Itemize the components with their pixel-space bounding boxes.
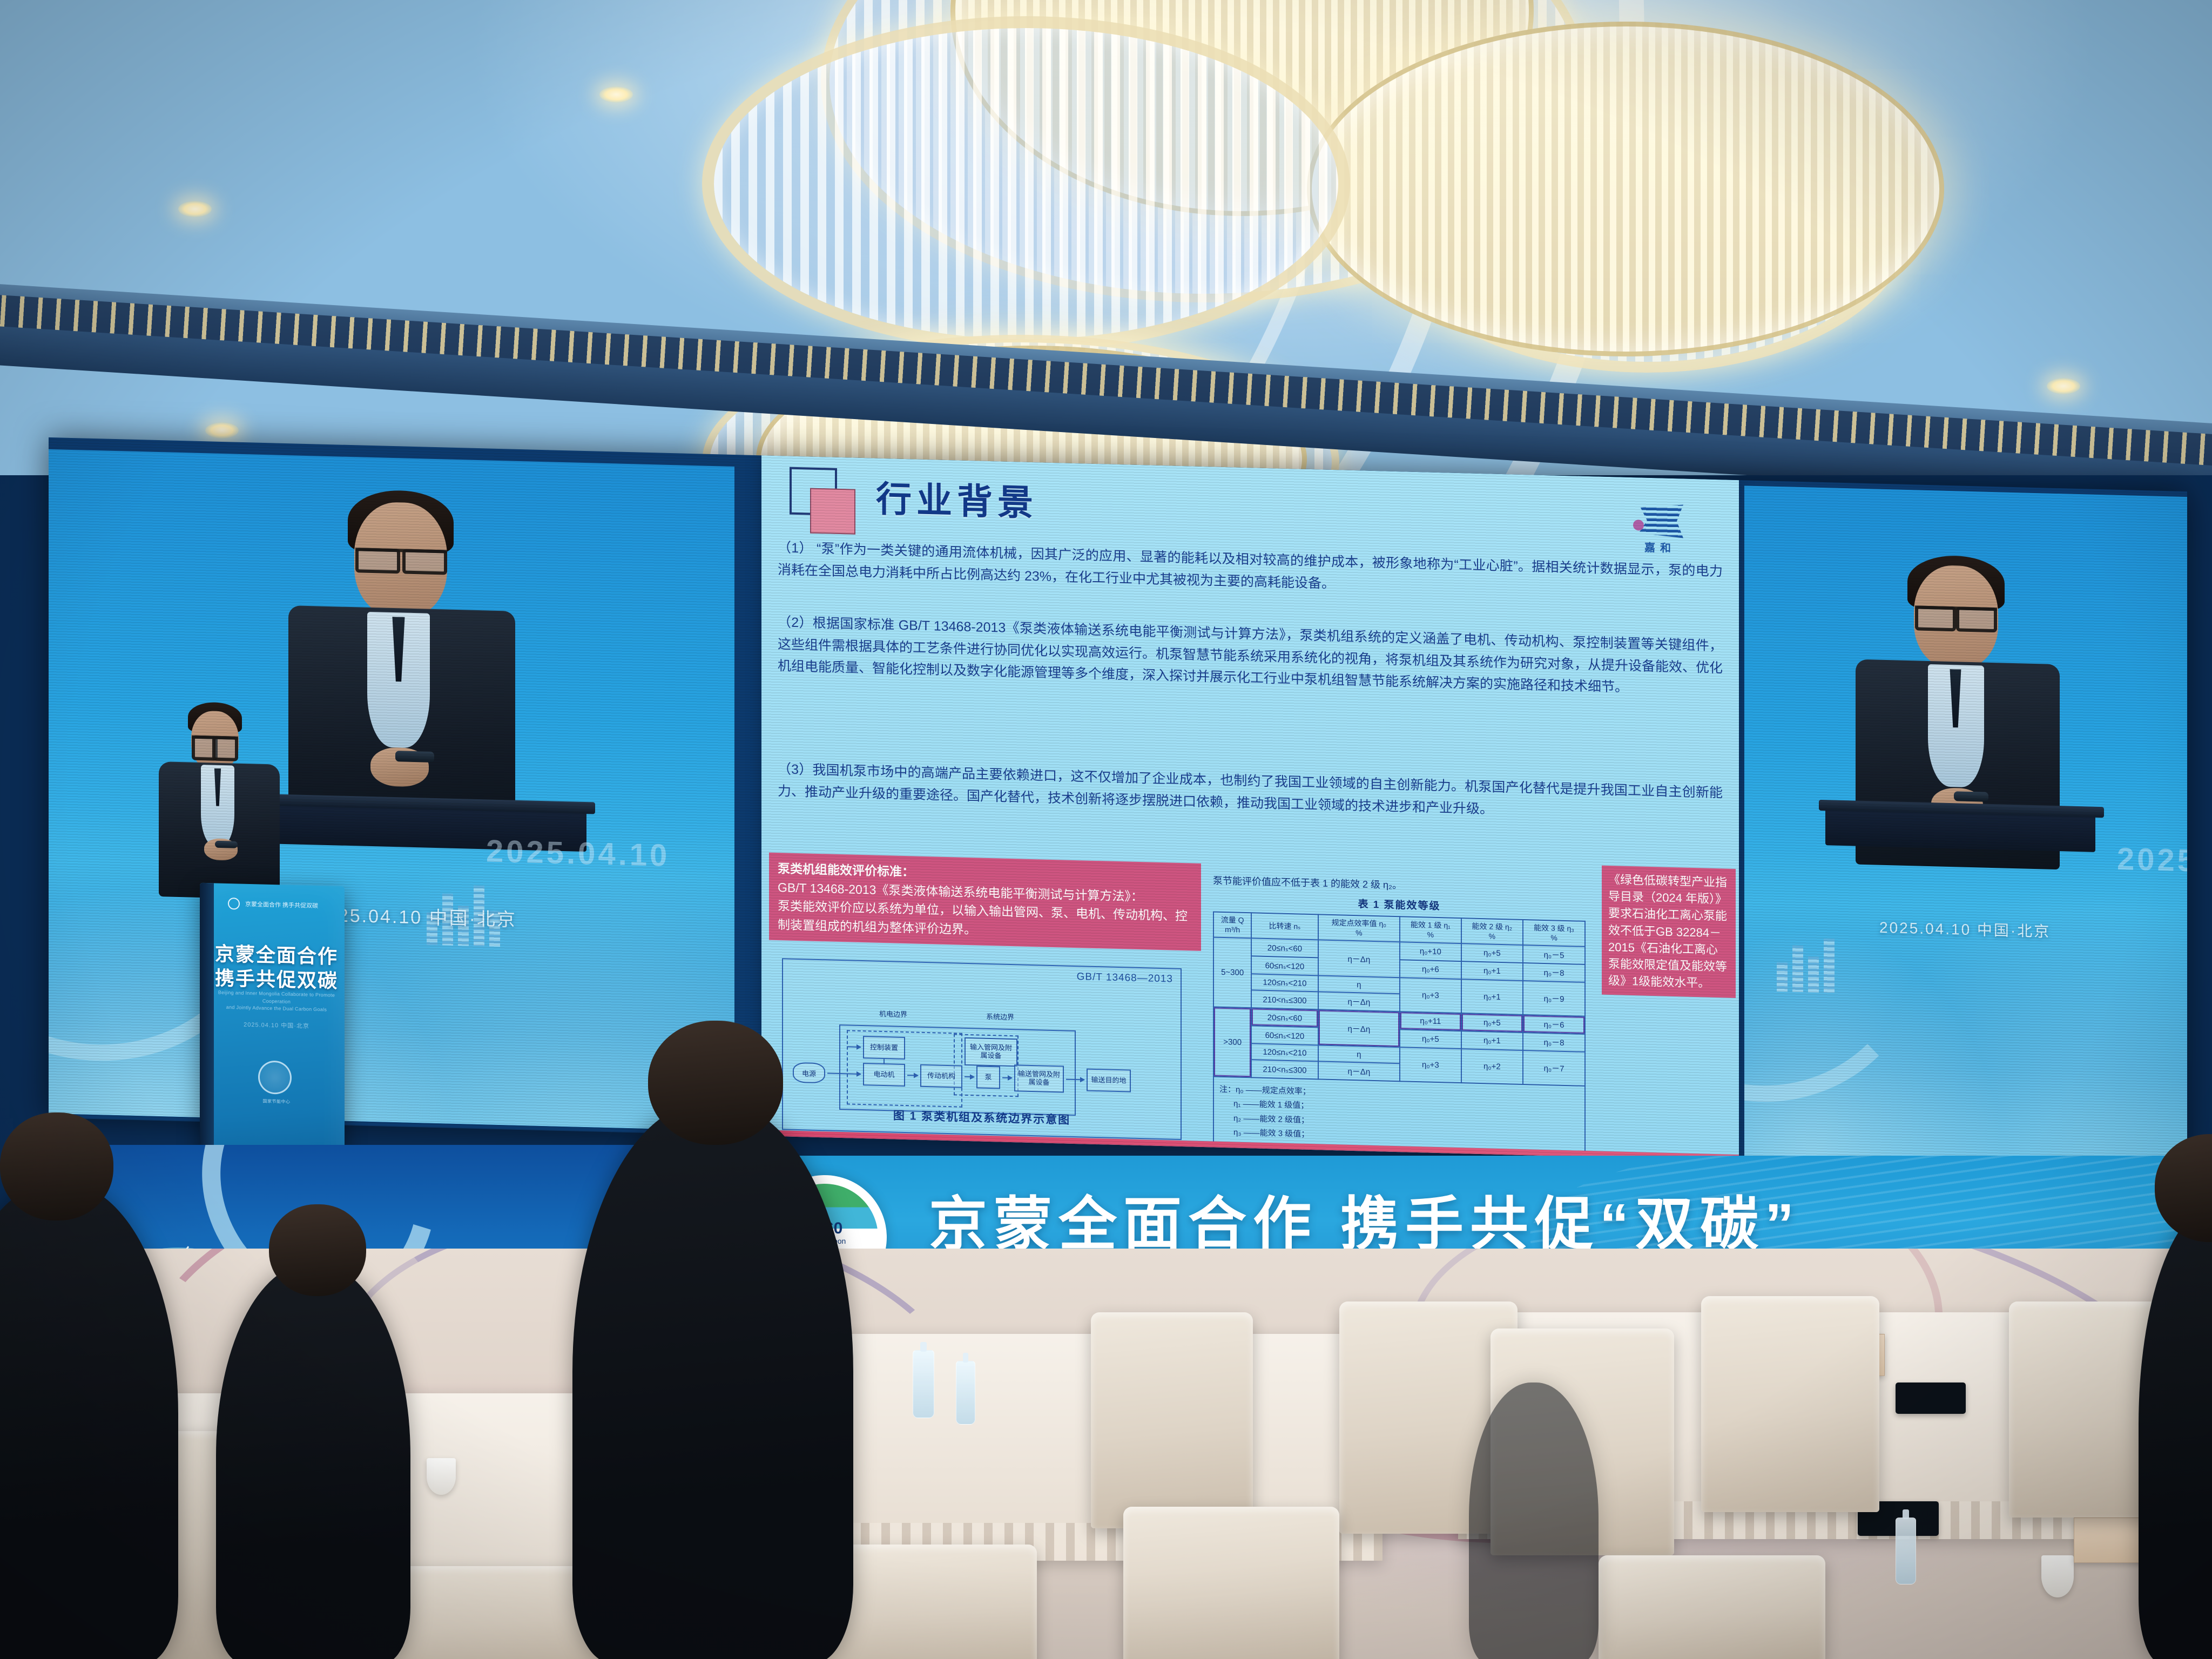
feed-date-caption: 2025.04.10 中国·北京 [314,900,517,931]
table-cell-grade3: η₀－5 [1523,945,1585,965]
figure-label-electrical-boundary: 机电边界 [879,1008,907,1019]
table-cell-grade2: η₀+1 [1461,1031,1523,1050]
table-cell-grade2: η₀+1 [1461,979,1523,1015]
lectern-date: 2025.04.10 中国·北京 [215,1019,338,1031]
feed-skyline-graphic [1777,932,1835,993]
figure-node-source: 电源 [793,1062,825,1084]
feed-date-caption: 2025.04.10 中国·北京 [1879,916,2051,942]
table-cell-eta0: η－Δη [1318,940,1400,977]
feed-date-ghost: 2025.04.10 [486,833,670,874]
table-col-header-2: 规定点效率值 η₀% [1318,914,1400,942]
banquet-chair [1599,1555,1825,1659]
table-cell-grade2: η₀+1 [1461,961,1523,981]
efficiency-table-block: 泵节能评价值应不低于表 1 的能效 2 级 η₂。 表 1 泵能效等级 流量 Q… [1213,873,1586,1163]
live-feed-left: 2025.04.10 2025.04.10 中国·北京 [49,449,734,1131]
feed-date-ghost: 2025. [2117,841,2187,879]
table-cell-specific-speed: 20≤nₛ<60 [1251,938,1318,957]
table-cell-eta0: η－Δη [1318,1009,1400,1047]
figure-node-pump: 泵 [976,1065,1000,1089]
slide-paragraph-3: （3）我国机泵市场中的高端产品主要依赖进口，这不仅增加了企业成本，也制约了我国工… [778,758,1723,826]
downlight [178,201,212,217]
company-logo-text: 嘉和 [1622,538,1698,556]
slide-paragraph-2: （2）根据国家标准 GB/T 13468-2013《泵类液体输送系统电能平衡测试… [778,611,1723,701]
lectern-logo-text: 京蒙全面合作 携手共促双碳 [245,900,318,910]
table-cell-flow: >300 [1213,1007,1251,1077]
attendee-head [0,1112,113,1220]
figure-arrow [965,1076,974,1077]
figure-label-system-boundary: 系统边界 [986,1011,1014,1022]
presenter-clicker [215,841,238,848]
figure-node-destination: 输送目的地 [1087,1069,1131,1092]
downlight [599,86,633,103]
table-cell-grade1: η₀+3 [1400,1047,1461,1083]
presenter-clicker [1954,791,1988,802]
slide-title: 行业背景 [876,470,1038,527]
conference-hall-photo: 2025.04.10 2025.04.10 中国·北京 [0,0,2212,1659]
table-cell-specific-speed: 210<nₛ≤300 [1251,990,1318,1009]
table-cell-eta0: η [1318,975,1400,994]
water-bottle [1896,1518,1916,1584]
company-logo: 嘉和 [1622,503,1698,556]
logo-dot-icon [1633,520,1644,531]
water-bottle [956,1361,975,1425]
standard-callout-box: 泵类机组能效评价标准： GB/T 13468-2013《泵类液体输送系统电能平衡… [769,853,1201,951]
table-cell-specific-speed: 60≤nₛ<120 [1251,1026,1318,1045]
banquet-chair [1701,1296,1879,1512]
glasses-icon [192,736,238,740]
table-cell-grade3: η₀－8 [1523,1033,1585,1052]
title-square-filled [810,488,855,535]
smartphone [1896,1382,1966,1414]
figure-node-motor: 电动机 [863,1063,905,1087]
attendee-silhouette [216,1264,410,1659]
table-cell-grade3: η₀－7 [1523,1050,1585,1086]
lectern: 京蒙全面合作 携手共促双碳 京蒙全面合作 携手共促双碳 Beijing and … [200,883,345,1189]
policy-callout-box: 《绿色低碳转型产业指导目录（2024 年版）》要求石油化工离心泵能效不低于GB … [1602,866,1736,998]
attendee-silhouette [572,1102,853,1659]
figure-connector [884,1059,885,1064]
lectern-edge [200,883,214,1186]
table-cell-flow: 5~300 [1213,937,1251,1008]
table-cell-grade2: η₀+2 [1461,1049,1523,1084]
attendee-head [269,1204,366,1296]
water-glass [427,1458,456,1495]
lectern-title-line1: 京蒙全面合作 [215,941,338,969]
table-cell-specific-speed: 20≤nₛ<60 [1251,1008,1318,1027]
lectern-subtitle: Beijing and Inner Mongolia Collaborate t… [215,989,338,1014]
attendee-head [648,1021,783,1145]
lectern-seal [258,1060,292,1095]
presenter-clicker [395,751,434,763]
lectern-title: 京蒙全面合作 携手共促双碳 [215,941,338,993]
lectern-seal-icon [228,898,240,910]
figure-node-inlet-pipe: 输入管网及附属设备 [965,1037,1017,1067]
table-note: 泵节能评价值应不低于表 1 的能效 2 级 η₂。 [1213,873,1586,896]
table-cell-specific-speed: 210<nₛ≤300 [1251,1060,1318,1079]
table-cell-eta0: η－Δη [1318,1061,1400,1081]
figure-gb-code: GB/T 13468—2013 [1077,971,1173,986]
table-cell-grade1: η₀+5 [1400,1029,1461,1049]
table-cell-specific-speed: 60≤nₛ<120 [1251,956,1318,975]
table-body: 5~30020≤nₛ<60η－Δηη₀+10η₀+5η₀－560≤nₛ<120η… [1213,937,1585,1085]
slide-paragraph-1: （1） “泵”作为一类关键的通用流体机械，因其广泛的应用、显著的能耗以及相对较高… [778,537,1723,604]
table-cell-eta0: η [1318,1045,1400,1063]
water-glass [2041,1555,2074,1597]
led-video-wall: 2025.04.10 2025.04.10 中国·北京 [49,437,2187,1172]
table-cell-grade3: η₀－9 [1523,981,1585,1016]
table-cell-grade2: η₀+5 [1461,943,1523,963]
chandelier-ring-mid [702,16,1350,351]
logo-mark-icon [1637,503,1683,538]
live-feed-right: 2025. 2025.04.10 中国·北京 [1744,485,2187,1169]
policy-callout-text: 《绿色低碳转型产业指导目录（2024 年版）》要求石油化工离心泵能效不低于GB … [1608,873,1727,990]
figure-node-control: 控制装置 [863,1036,905,1060]
table-cell-grade1: η₀+11 [1400,1011,1461,1031]
table-cell-grade1: η₀+6 [1400,960,1461,979]
presentation-slide: 行业背景 嘉和 （1） “泵”作为一类关键的通用流体机械，因其广泛的应用、显著的… [761,455,1739,1163]
table-cell-grade1: η₀+10 [1400,942,1461,961]
table-cell-grade3: η₀－6 [1523,1015,1585,1034]
banquet-chair [1091,1312,1253,1528]
table-cell-specific-speed: 120≤nₛ<210 [1251,974,1318,992]
banquet-chair [1123,1507,1339,1659]
table-cell-specific-speed: 120≤nₛ<210 [1251,1043,1318,1061]
lectern-seal-text: 国家节能中心 [215,1097,338,1106]
table-col-header-3: 能效 1 级 η₁% [1400,916,1461,943]
table-cell-grade2: η₀+5 [1461,1013,1523,1033]
chandelier-drum-right [1307,22,1944,356]
figure-pump-system-boundary: GB/T 13468—2013 机电边界 系统边界 电源 控制装置 输入管网及附… [782,958,1182,1140]
downlight [205,422,239,439]
water-bottle [913,1350,934,1418]
table-col-header-5: 能效 3 级 η₃% [1523,920,1585,947]
figure-node-outlet-pipe: 输送管网及附属设备 [1014,1064,1064,1092]
pump-efficiency-table: 流量 Qm³/h比转速 nₛ规定点效率值 η₀%能效 1 级 η₁%能效 2 级… [1213,911,1586,1086]
figure-node-transmission: 传动机构 [920,1064,962,1088]
lectern-logo-row: 京蒙全面合作 携手共促双碳 [228,898,318,912]
downlight [2047,378,2080,394]
table-col-header-1: 比转速 nₛ [1251,913,1318,940]
attendee-silhouette [1469,1382,1599,1659]
ceiling [0,0,2212,475]
table-col-header-0: 流量 Qm³/h [1213,912,1251,938]
table-cell-grade3: η₀－8 [1523,963,1585,982]
table-cell-grade1: η₀+3 [1400,977,1461,1013]
figure-arrow [1002,1077,1012,1078]
table-col-header-4: 能效 2 级 η₂% [1461,918,1523,945]
table-cell-eta0: η－Δη [1318,992,1400,1011]
